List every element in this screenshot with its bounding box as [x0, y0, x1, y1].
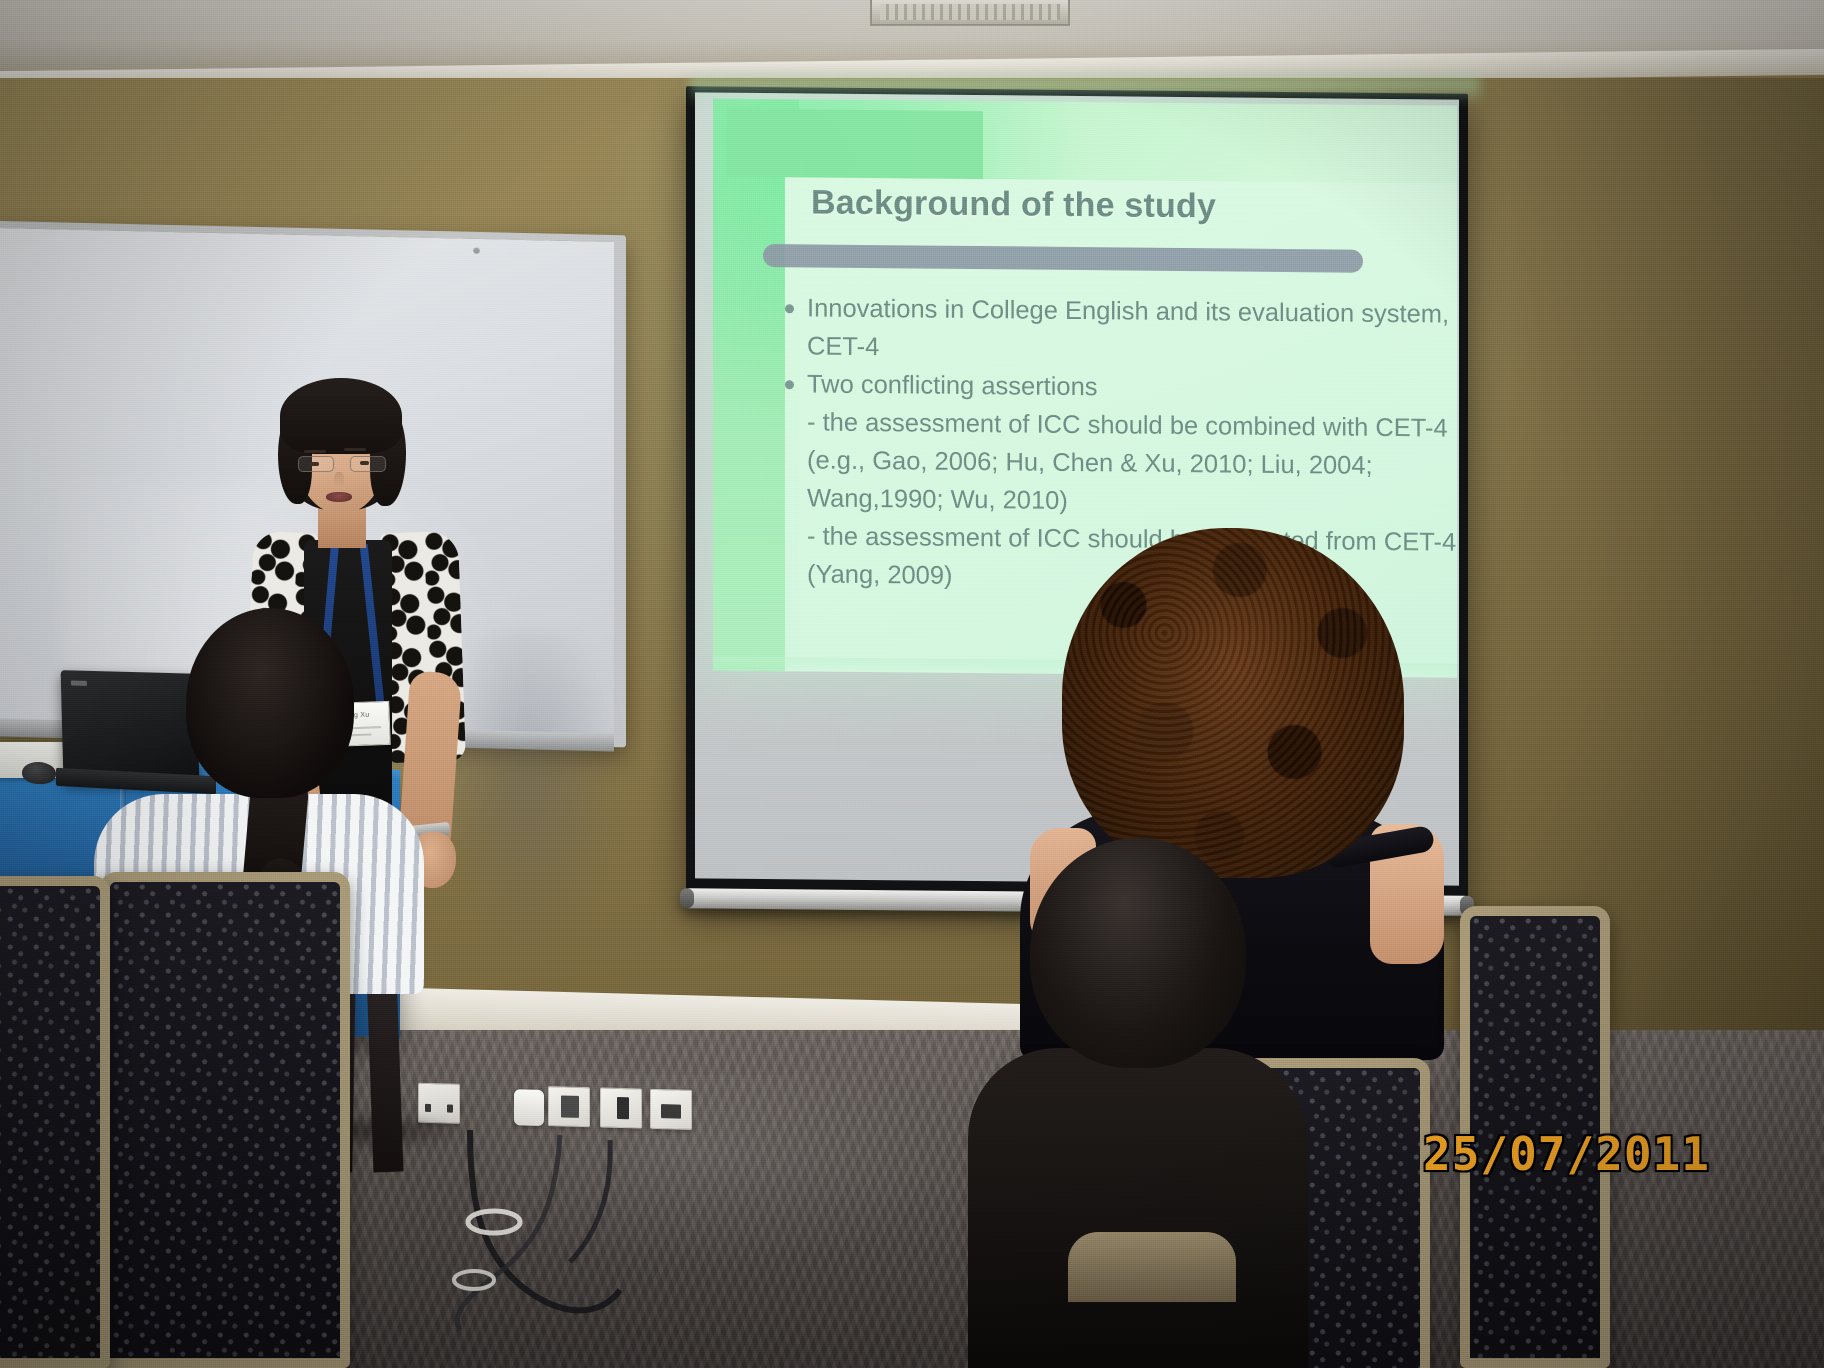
power-socket-icon[interactable]	[650, 1089, 692, 1130]
chair-backrest	[0, 876, 110, 1368]
slide-bullet-item: Innovations in College English and its e…	[785, 289, 1457, 371]
slide-bullet-item: Two conflicting assertions	[785, 365, 1457, 409]
whiteboard-screw-icon	[473, 247, 480, 254]
attendee-body	[968, 1048, 1308, 1368]
chair[interactable]	[0, 876, 110, 1368]
mouth	[326, 492, 352, 502]
attendee-head	[186, 608, 354, 798]
photograph-scene: Background of the study Innovations in C…	[0, 0, 1824, 1368]
eyebrow	[304, 450, 326, 453]
slide-bullet-text: Innovations in College English and its e…	[807, 289, 1457, 371]
presenter-hair-front	[280, 378, 402, 454]
chair[interactable]	[100, 872, 350, 1368]
attendee-hair	[1062, 528, 1404, 878]
nose	[334, 472, 344, 488]
attendee-head	[1030, 838, 1246, 1068]
eye	[360, 461, 369, 465]
plug-icon	[514, 1089, 544, 1126]
ceiling-vent-icon	[870, 0, 1070, 26]
projector-light-spill	[690, 78, 1480, 104]
slide-accent-block	[727, 109, 983, 179]
data-socket-icon[interactable]	[600, 1087, 642, 1128]
laptop-logo-icon	[71, 680, 87, 685]
eyebrow	[344, 448, 366, 451]
camera-date-stamp: 25/07/2011	[1423, 1127, 1710, 1181]
presenter-leg	[367, 972, 404, 1173]
screen-bar-cap-left-icon	[680, 888, 694, 908]
attendee-hair-texture	[1062, 528, 1404, 878]
chair-backrest	[100, 872, 350, 1368]
attendee-collar	[1068, 1232, 1236, 1302]
slide-bullet-text: Two conflicting assertions	[807, 365, 1457, 409]
slide-subpoint-text: - the assessment of ICC should be combin…	[807, 403, 1457, 523]
slide-title: Background of the study	[811, 183, 1431, 228]
power-socket-icon[interactable]	[548, 1086, 590, 1127]
attendee-front-row	[1004, 838, 1294, 1368]
bullet-dot-icon	[785, 304, 794, 313]
bullet-dot-icon	[785, 380, 794, 389]
eye	[310, 462, 319, 466]
computer-mouse[interactable]	[22, 761, 56, 784]
